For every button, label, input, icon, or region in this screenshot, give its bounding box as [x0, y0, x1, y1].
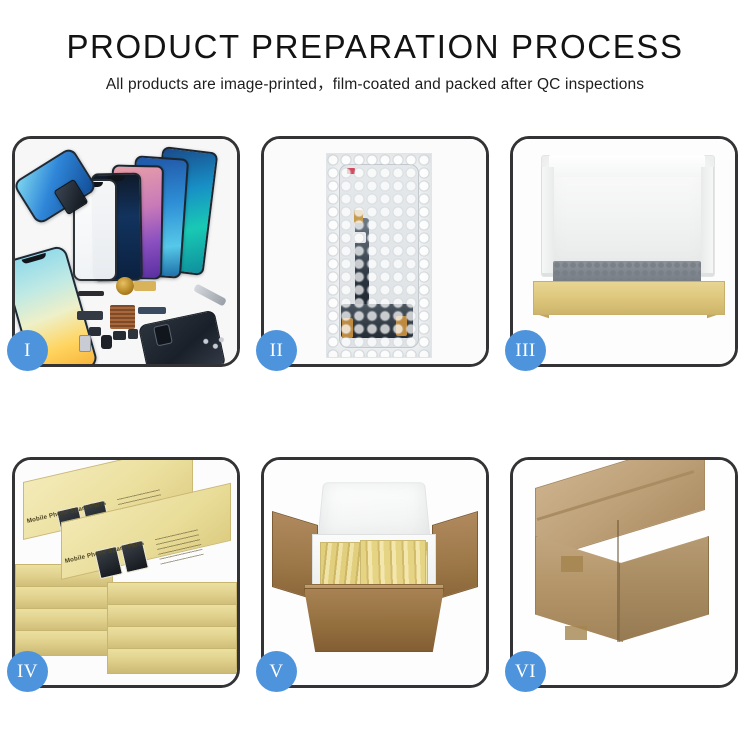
part-small-ic-3 — [128, 329, 138, 339]
kraft-boxes-inside-right — [360, 540, 426, 588]
stacked-boxes-scene: Mobile Phone Spare Parts Mobile Phone Sp… — [15, 460, 237, 685]
wrapped-red-marker — [347, 168, 355, 174]
step-image-5 — [264, 460, 486, 685]
foam-inner-box-scene — [513, 139, 735, 364]
step-badge-6: VI — [505, 651, 546, 692]
carton-front-edge — [617, 520, 619, 642]
step-image-4: Mobile Phone Spare Parts Mobile Phone Sp… — [15, 460, 237, 685]
wrapped-gold-tab-right — [396, 316, 407, 336]
carton-tape-lower — [565, 626, 587, 640]
part-small-ic-1 — [89, 327, 101, 336]
part-small-ic-2 — [113, 331, 126, 340]
part-camera-module — [101, 335, 112, 349]
step-panel-2: II — [261, 136, 489, 367]
carton-right-face — [619, 536, 709, 642]
process-steps-grid: I II — [12, 136, 738, 688]
carton-front-panel — [304, 588, 444, 652]
step-image-6 — [513, 460, 735, 685]
step-badge-3: III — [505, 330, 546, 371]
step-badge-2: II — [256, 330, 297, 371]
step-image-2 — [264, 139, 486, 364]
step-panel-3: III — [510, 136, 738, 367]
step-panel-6: VI — [510, 457, 738, 688]
part-flex-bar — [78, 291, 104, 296]
large-phone-notch-icon — [22, 253, 47, 265]
page-subtitle: All products are image-printed，film-coat… — [0, 75, 750, 95]
stack-layer-r4 — [107, 648, 237, 674]
kraft-tray-base — [533, 281, 725, 315]
step-badge-4: IV — [7, 651, 48, 692]
foam-box-lid-top — [549, 155, 705, 177]
step-panel-4: Mobile Phone Spare Parts Mobile Phone Sp… — [12, 457, 240, 688]
part-copper-coil — [116, 277, 134, 295]
part-flex-cable-3 — [77, 311, 103, 320]
wrapped-flex-connector — [353, 232, 366, 243]
bubble-wrap-scene — [264, 139, 486, 364]
carton-foam-cooler-scene — [264, 460, 486, 685]
step-panel-5: V — [261, 457, 489, 688]
foam-box-flap-left — [541, 167, 554, 273]
part-chip-grid — [110, 305, 135, 329]
part-vibration-motor — [79, 335, 91, 352]
bubble-wrap-bag — [326, 153, 432, 358]
wrapped-gold-tab-left — [342, 318, 353, 338]
product-preparation-infographic: PRODUCT PREPARATION PROCESS All products… — [0, 0, 750, 750]
step-image-3 — [513, 139, 735, 364]
foam-box-flap-right — [701, 167, 714, 273]
wrapped-gold-contact — [354, 210, 363, 223]
part-flex-cable-2 — [138, 307, 166, 314]
step-badge-5: V — [256, 651, 297, 692]
phones-and-parts-scene — [15, 139, 237, 364]
step-panel-1: I — [12, 136, 240, 367]
part-screws — [201, 335, 225, 351]
part-repair-tool — [193, 283, 227, 306]
carton-tape-upper — [561, 556, 583, 572]
step-badge-1: I — [7, 330, 48, 371]
part-gold-flex — [134, 281, 156, 291]
page-title: PRODUCT PREPARATION PROCESS — [0, 26, 750, 68]
step-image-1 — [15, 139, 237, 364]
sealed-carton-scene — [513, 460, 735, 685]
header: PRODUCT PREPARATION PROCESS All products… — [0, 0, 750, 95]
